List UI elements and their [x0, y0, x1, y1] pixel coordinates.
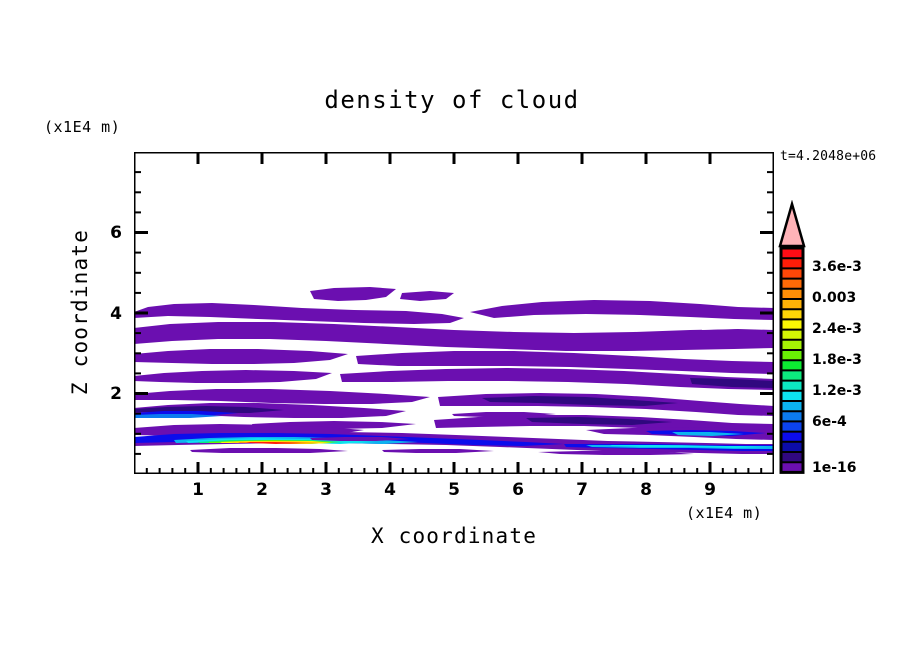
x-axis-title: X coordinate	[134, 524, 774, 548]
x-axis-unit-label: (x1E4 m)	[686, 504, 762, 522]
x-tick-label: 6	[503, 480, 533, 500]
x-tick-label: 5	[439, 480, 469, 500]
colorbar-label: 1e-16	[812, 460, 857, 476]
colorbar-label: 6e-4	[812, 414, 847, 430]
figure-canvas: density of cloud (x1E4 m) t=4.2048e+06 Z…	[0, 0, 904, 654]
colorbar-label: 0.003	[812, 290, 856, 306]
x-tick-label: 8	[631, 480, 661, 500]
y-axis-title: Z coordinate	[68, 212, 92, 412]
y-tick-label: 2	[92, 384, 122, 404]
colorbar-label: 1.2e-3	[812, 383, 862, 399]
x-tick-label: 1	[183, 480, 213, 500]
colorbar-label: 3.6e-3	[812, 259, 862, 275]
x-tick-label: 2	[247, 480, 277, 500]
colorbar-overflow-arrow	[780, 204, 804, 246]
x-tick-label: 9	[695, 480, 725, 500]
x-tick-label: 3	[311, 480, 341, 500]
contour-plot-area	[134, 152, 774, 474]
colorbar	[776, 200, 810, 484]
x-tick-label: 4	[375, 480, 405, 500]
colorbar-label: 1.8e-3	[812, 352, 862, 368]
x-tick-label: 7	[567, 480, 597, 500]
colorbar-label: 2.4e-3	[812, 321, 862, 337]
y-axis-unit-label: (x1E4 m)	[44, 118, 120, 136]
y-tick-label: 4	[92, 304, 122, 324]
time-annotation: t=4.2048e+06	[780, 149, 876, 164]
page-title: density of cloud	[0, 86, 904, 114]
y-tick-label: 6	[92, 223, 122, 243]
